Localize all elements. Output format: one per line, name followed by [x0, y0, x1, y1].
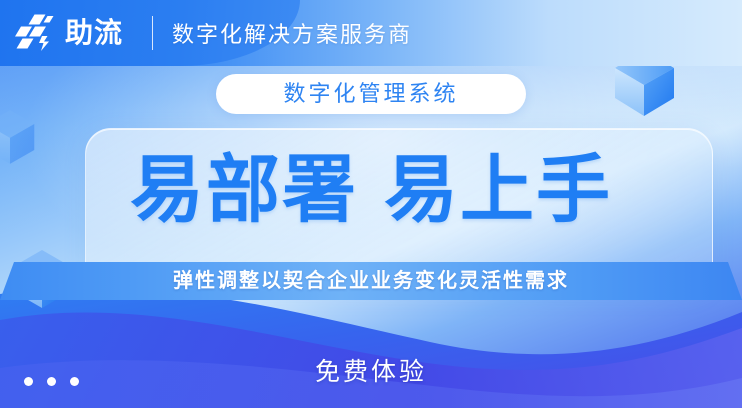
carousel-dot[interactable]	[70, 377, 79, 386]
header-tagline: 数字化解决方案服务商	[172, 0, 412, 66]
system-badge-label: 数字化管理系统	[283, 83, 458, 105]
brand-logo[interactable]: 助流	[14, 0, 123, 66]
logo-wordmark: 助流	[65, 19, 123, 47]
cta-area[interactable]: 免费体验	[0, 352, 742, 392]
carousel-dot[interactable]	[47, 377, 56, 386]
headline-part-two: 易上手	[384, 153, 612, 227]
cta-label[interactable]: 免费体验	[315, 360, 427, 385]
banner-header: 助流 数字化解决方案服务商	[0, 0, 742, 66]
subtitle-band: 弹性调整以契合企业业务变化灵活性需求	[0, 262, 742, 300]
system-badge: 数字化管理系统	[216, 74, 526, 114]
headline: 易部署 易上手	[0, 142, 742, 238]
carousel-indicators[interactable]	[24, 377, 79, 386]
header-divider	[152, 16, 153, 50]
lightning-blocks-logo-icon	[14, 12, 56, 54]
headline-part-one: 易部署	[130, 153, 358, 227]
promo-banner: 助流 数字化解决方案服务商 数字化管理系统 易部署 易上手 弹性调整以契合企业业…	[0, 0, 742, 408]
subtitle-text: 弹性调整以契合企业业务变化灵活性需求	[173, 271, 569, 291]
carousel-dot[interactable]	[24, 377, 33, 386]
